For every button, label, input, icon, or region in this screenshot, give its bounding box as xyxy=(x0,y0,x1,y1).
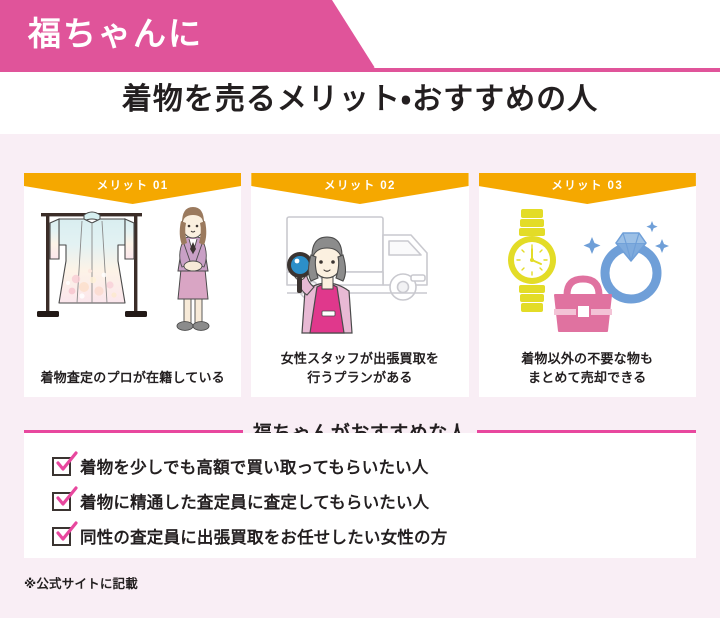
footnote: ※公式サイトに記載 xyxy=(24,573,138,592)
caption-line: 着物以外の不要な物も xyxy=(479,349,696,368)
list-item-label: 同性の査定員に出張買取をお任せしたい女性の方 xyxy=(80,524,447,548)
truck-with-female-staff-icon xyxy=(251,201,468,335)
list-item-label: 着物を少しでも高額で買い取ってもらいたい人 xyxy=(80,454,429,478)
merit-caption-3: 着物以外の不要な物も まとめて売却できる xyxy=(479,349,696,387)
body-area: メリット 01 xyxy=(0,134,720,618)
watch-ring-handbag-icon xyxy=(479,201,696,335)
caption-line: まとめて売却できる xyxy=(479,368,696,387)
merit-ribbon-label-3: メリット 03 xyxy=(479,177,696,193)
merit-card-1: メリット 01 xyxy=(24,173,241,397)
recommend-panel: 着物を少しでも高額で買い取ってもらいたい人 着物に精通した査定員に査定してもらい… xyxy=(24,433,696,558)
list-item: 同性の査定員に出張買取をお任せしたい女性の方 xyxy=(52,521,447,551)
merit-caption-1: 着物査定のプロが在籍している xyxy=(24,368,241,387)
kimono-on-rack-with-appraiser-icon xyxy=(24,201,241,335)
merit-caption-2: 女性スタッフが出張買取を 行うプランがある xyxy=(251,349,468,387)
checkbox-checked-icon xyxy=(52,457,71,476)
page-title: 着物を売るメリット・おすすめの人 xyxy=(0,78,720,122)
caption-line: 着物査定のプロが在籍している xyxy=(24,368,241,387)
merit-ribbon-label-2: メリット 02 xyxy=(251,177,468,193)
checkbox-checked-icon xyxy=(52,527,71,546)
merit-card-3: メリット 03 xyxy=(479,173,696,397)
header-underline xyxy=(0,68,720,72)
checkbox-checked-icon xyxy=(52,492,71,511)
infographic-root: 福ちゃんに 着物を売るメリット・おすすめの人 メリット 01 xyxy=(0,0,720,618)
merit-ribbon-label-1: メリット 01 xyxy=(24,177,241,193)
caption-line: 行うプランがある xyxy=(251,368,468,387)
brand-tag-label: 福ちゃんに xyxy=(28,11,203,57)
recommend-list: 着物を少しでも高額で買い取ってもらいたい人 着物に精通した査定員に査定してもらい… xyxy=(52,451,447,556)
merit-card-list: メリット 01 xyxy=(24,173,696,397)
list-item: 着物を少しでも高額で買い取ってもらいたい人 xyxy=(52,451,447,481)
list-item-label: 着物に精通した査定員に査定してもらいたい人 xyxy=(80,489,429,513)
header: 福ちゃんに 着物を売るメリット・おすすめの人 xyxy=(0,0,720,134)
list-item: 着物に精通した査定員に査定してもらいたい人 xyxy=(52,486,447,516)
merit-card-2: メリット 02 xyxy=(251,173,468,397)
caption-line: 女性スタッフが出張買取を xyxy=(251,349,468,368)
